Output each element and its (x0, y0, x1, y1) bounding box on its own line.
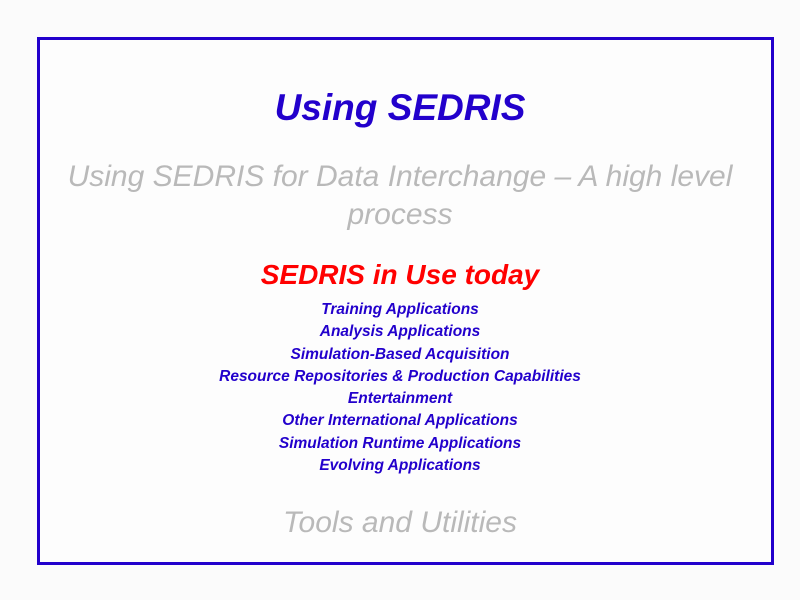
slide-root: Using SEDRIS Using SEDRIS for Data Inter… (0, 0, 800, 600)
list-item: Simulation-Based Acquisition (0, 344, 800, 366)
list-item: Other International Applications (0, 410, 800, 432)
list-item: Simulation Runtime Applications (0, 433, 800, 455)
slide-content: Using SEDRIS Using SEDRIS for Data Inter… (0, 0, 800, 600)
slide-subtitle: Using SEDRIS for Data Interchange – A hi… (60, 158, 740, 234)
application-list: Training Applications Analysis Applicati… (0, 299, 800, 477)
list-item: Analysis Applications (0, 321, 800, 343)
section-heading-sedris-in-use-today: SEDRIS in Use today (0, 258, 800, 292)
list-item: Training Applications (0, 299, 800, 321)
list-item: Entertainment (0, 388, 800, 410)
list-item: Resource Repositories & Production Capab… (0, 366, 800, 388)
list-item: Evolving Applications (0, 455, 800, 477)
footer-tools-and-utilities: Tools and Utilities (0, 504, 800, 542)
page-title: Using SEDRIS (0, 86, 800, 130)
